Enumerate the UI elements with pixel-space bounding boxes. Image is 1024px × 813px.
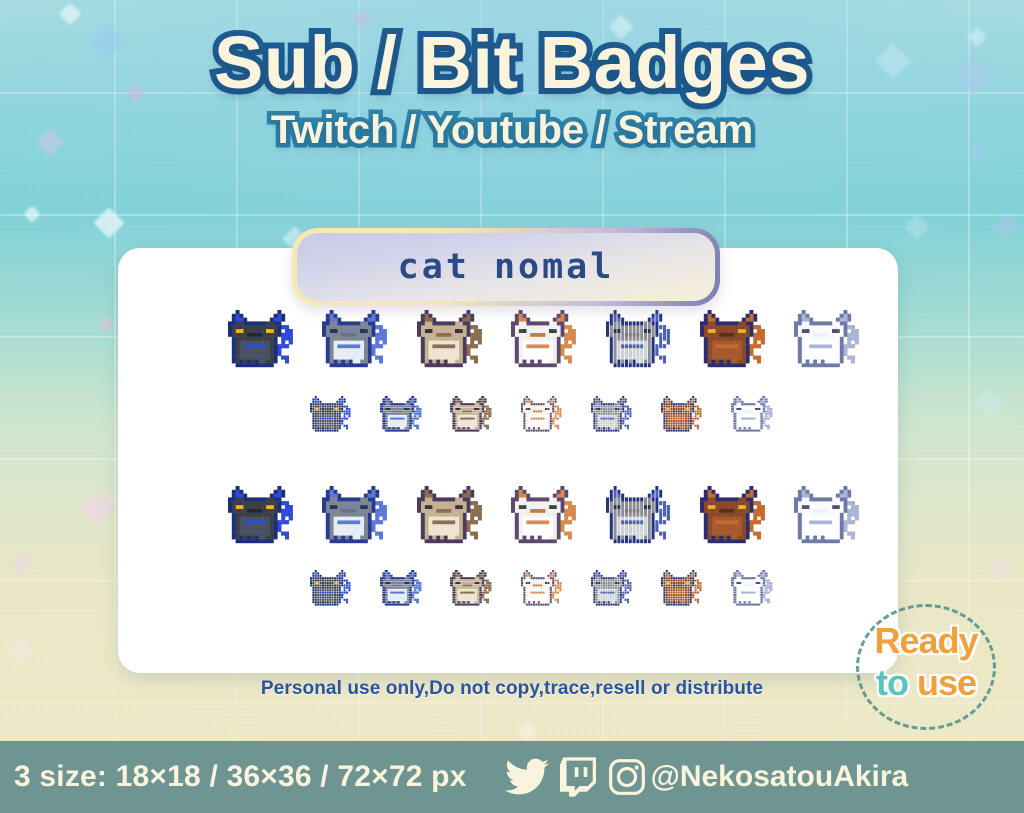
sprite-eye-highlight — [322, 310, 326, 314]
cat-sprite-black-cat — [310, 396, 353, 432]
cat-sprite-blue-gray-cat — [322, 486, 390, 543]
sprite-eye-highlight — [661, 396, 663, 398]
social-icons — [505, 757, 647, 797]
ready-badge-line2: to use — [856, 662, 996, 704]
sprite-eye-highlight — [794, 310, 798, 314]
sprite-pixel — [731, 570, 733, 572]
sprite-eye-highlight — [521, 396, 523, 398]
ready-badge-line1: Ready — [856, 620, 996, 662]
page-title: Sub / Bit Badges — [0, 26, 1024, 100]
cat-sprite-tortoise-cat — [700, 310, 768, 367]
poster-header: Sub / Bit Badges Twitch / Youtube / Stre… — [0, 26, 1024, 150]
cat-sprite-gray-cat — [606, 310, 674, 367]
cat-sprite-gray-cat — [591, 396, 634, 432]
instagram-icon[interactable] — [607, 757, 647, 797]
cat-sprite-calico-cat — [511, 486, 579, 543]
ready-badge-use: use — [917, 662, 976, 703]
sprite-row-row-closed-eyes-small — [310, 570, 774, 606]
sprite-row-row-open-eyes-large — [228, 310, 863, 367]
page-subtitle: Twitch / Youtube / Stream — [0, 110, 1024, 150]
cat-sprite-black-cat — [228, 486, 296, 543]
cat-sprite-white-cat — [731, 396, 774, 432]
poster-canvas: Sub / Bit Badges Twitch / Youtube / Stre… — [0, 0, 1024, 813]
sprite-row-row-closed-eyes-large — [228, 486, 863, 543]
sprite-pixel — [228, 486, 232, 490]
sprite-pixel — [591, 570, 593, 572]
sprite-pixel — [380, 570, 382, 572]
sprite-eye-highlight — [310, 396, 312, 398]
cat-sprite-tortoise-cat — [661, 570, 704, 606]
sprite-pixel — [417, 486, 421, 490]
twitter-icon[interactable] — [505, 758, 549, 796]
sprite-pixel — [700, 486, 704, 490]
cat-sprite-gray-cat — [591, 570, 634, 606]
category-label-inner: cat nomal — [297, 233, 715, 301]
sprite-eye-highlight — [591, 396, 593, 398]
cat-sprite-calico-cat — [511, 310, 579, 367]
cat-sprite-black-cat — [228, 310, 296, 367]
sprite-eye-highlight — [417, 310, 421, 314]
sprite-pixel — [511, 486, 515, 490]
cat-sprite-gray-cat — [606, 486, 674, 543]
sprite-eye-highlight — [450, 396, 452, 398]
sprite-pixel — [450, 570, 452, 572]
sprite-pixel — [661, 570, 663, 572]
sprite-eye-highlight — [700, 310, 704, 314]
cat-sprite-tortoise-cat — [700, 486, 768, 543]
sprite-pixel — [310, 570, 312, 572]
ready-to-use-badge: Ready to use — [856, 604, 996, 730]
footer-bar: 3 size: 18×18 / 36×36 / 72×72 px — [0, 741, 1024, 813]
sprite-pixel — [606, 486, 610, 490]
category-label-pill: cat nomal — [292, 228, 720, 306]
sprite-pixel — [521, 570, 523, 572]
cat-sprite-brown-tabby-cat — [417, 486, 485, 543]
cat-sprite-blue-gray-cat — [322, 310, 390, 367]
sprite-eye-highlight — [606, 310, 610, 314]
sprite-row-row-open-eyes-small — [310, 396, 774, 432]
sprite-grid — [118, 248, 898, 673]
cat-sprite-blue-gray-cat — [380, 570, 423, 606]
cat-sprite-tortoise-cat — [661, 396, 704, 432]
cat-sprite-blue-gray-cat — [380, 396, 423, 432]
cat-sprite-white-cat — [731, 570, 774, 606]
sizes-text: 3 size: 18×18 / 36×36 / 72×72 px — [14, 760, 467, 794]
social-handle: @NekosatouAkira — [651, 760, 909, 794]
sprite-eye-highlight — [228, 310, 232, 314]
category-label-text: cat nomal — [398, 247, 615, 287]
cat-sprite-brown-tabby-cat — [450, 570, 493, 606]
cat-sprite-calico-cat — [521, 396, 564, 432]
sprite-pixel — [322, 486, 326, 490]
twitch-icon[interactable] — [560, 757, 596, 797]
sprite-eye-highlight — [511, 310, 515, 314]
sprite-eye-highlight — [380, 396, 382, 398]
cat-sprite-calico-cat — [521, 570, 564, 606]
ready-badge-to: to — [876, 662, 908, 703]
cat-sprite-black-cat — [310, 570, 353, 606]
cat-sprite-white-cat — [794, 310, 862, 367]
cat-sprite-brown-tabby-cat — [450, 396, 493, 432]
cat-sprite-brown-tabby-cat — [417, 310, 485, 367]
sprite-eye-highlight — [731, 396, 733, 398]
cat-sprite-white-cat — [794, 486, 862, 543]
sprite-pixel — [794, 486, 798, 490]
